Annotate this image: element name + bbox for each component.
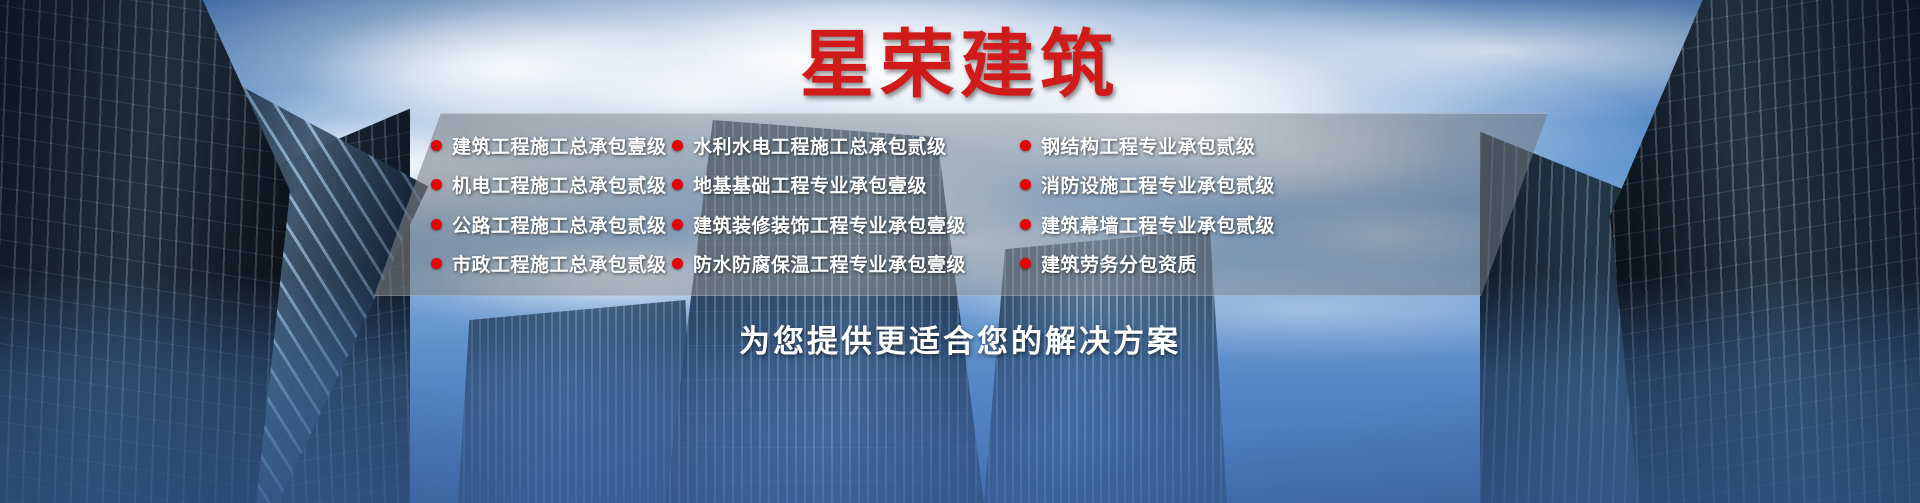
list-item: 消防设施工程专业承包贰级 (1020, 167, 1332, 203)
list-item: 机电工程施工总承包贰级 (431, 167, 672, 203)
qualifications-panel: 建筑工程施工总承包壹级 机电工程施工总承包贰级 公路工程施工总承包贰级 市政工程… (374, 113, 1548, 296)
list-item-label: 钢结构工程专业承包贰级 (1041, 132, 1256, 159)
list-item: 地基基础工程专业承包壹级 (672, 167, 1002, 203)
bullet-dot-icon (1020, 140, 1031, 151)
list-item-label: 机电工程施工总承包贰级 (452, 171, 667, 198)
list-item-label: 建筑工程施工总承包壹级 (452, 132, 667, 159)
banner-tagline: 为您提供更适合您的解决方案 (0, 316, 1920, 361)
qualifications-column-1: 建筑工程施工总承包壹级 机电工程施工总承包贰级 公路工程施工总承包贰级 市政工程… (374, 127, 672, 282)
bullet-dot-icon (431, 258, 442, 269)
list-item: 市政工程施工总承包贰级 (431, 246, 672, 282)
list-item-label: 地基基础工程专业承包壹级 (693, 171, 927, 198)
bullet-dot-icon (672, 258, 683, 269)
list-item: 建筑工程施工总承包壹级 (431, 127, 672, 163)
qualifications-columns: 建筑工程施工总承包壹级 机电工程施工总承包贰级 公路工程施工总承包贰级 市政工程… (374, 113, 1548, 296)
list-item: 公路工程施工总承包贰级 (431, 206, 672, 242)
company-hero-banner: 星荣建筑 建筑工程施工总承包壹级 机电工程施工总承包贰级 公路工程施工总承包贰级 (0, 0, 1920, 503)
list-item: 建筑幕墙工程专业承包贰级 (1020, 206, 1332, 242)
list-item: 钢结构工程专业承包贰级 (1020, 127, 1332, 163)
bullet-dot-icon (1020, 179, 1031, 190)
qualifications-column-2: 水利水电工程施工总承包贰级 地基基础工程专业承包壹级 建筑装修装饰工程专业承包壹… (672, 127, 1002, 282)
bullet-dot-icon (1020, 219, 1031, 230)
bullet-dot-icon (672, 219, 683, 230)
bullet-dot-icon (672, 140, 683, 151)
list-item-label: 建筑装修装饰工程专业承包壹级 (693, 211, 966, 238)
list-item: 建筑装修装饰工程专业承包壹级 (672, 206, 1002, 242)
qualifications-column-3: 钢结构工程专业承包贰级 消防设施工程专业承包贰级 建筑幕墙工程专业承包贰级 建筑… (1002, 127, 1332, 282)
bullet-dot-icon (672, 179, 683, 190)
list-item: 建筑劳务分包资质 (1020, 246, 1332, 282)
list-item: 防水防腐保温工程专业承包壹级 (672, 246, 1002, 282)
bullet-dot-icon (431, 140, 442, 151)
list-item-label: 公路工程施工总承包贰级 (452, 211, 667, 238)
list-item-label: 建筑幕墙工程专业承包贰级 (1041, 211, 1275, 238)
bullet-dot-icon (1020, 258, 1031, 269)
company-name-title: 星荣建筑 (0, 28, 1920, 102)
list-item-label: 水利水电工程施工总承包贰级 (693, 132, 947, 159)
bullet-dot-icon (431, 219, 442, 230)
list-item-label: 市政工程施工总承包贰级 (452, 250, 667, 277)
list-item-label: 消防设施工程专业承包贰级 (1041, 171, 1275, 198)
bullet-dot-icon (431, 179, 442, 190)
list-item-label: 防水防腐保温工程专业承包壹级 (693, 250, 966, 277)
list-item: 水利水电工程施工总承包贰级 (672, 127, 1002, 163)
list-item-label: 建筑劳务分包资质 (1041, 250, 1197, 277)
